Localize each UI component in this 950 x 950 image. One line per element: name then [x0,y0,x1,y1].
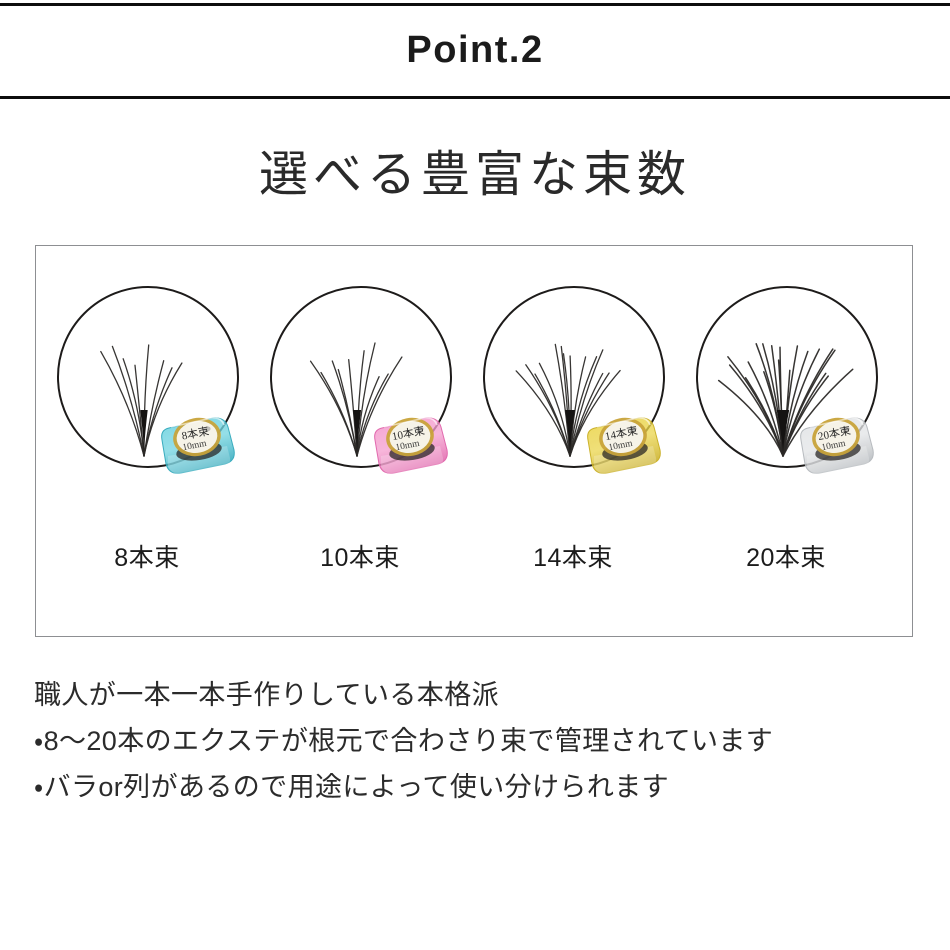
bundle-panel: 8本束10mm8本束10本束10mm10本束14本束10mm14本束20本束10… [35,245,913,637]
page-title: Point.2 [0,26,950,74]
lash-jar-10: 10本束10mm [368,406,452,476]
bundle-item-20: 20本束10mm20本束 [686,284,886,614]
bundle-item-10: 10本束10mm10本束 [260,284,460,614]
bundle-caption: 8本束 [47,542,247,574]
header-rule-top [0,3,950,6]
bundle-item-14: 14本束10mm14本束 [473,284,673,614]
description-line: ・バラor列があるので用途によって使い分けられます [34,764,924,810]
header-band: Point.2 [0,0,950,101]
lash-jar-8: 8本束10mm [155,406,239,476]
description-block: 職人が一本一本手作りしている本格派・8〜20本のエクステが根元で合わさり束で管理… [34,672,924,810]
description-line: ・8〜20本のエクステが根元で合わさり束で管理されています [34,718,924,764]
description-line: 職人が一本一本手作りしている本格派 [34,672,924,718]
bundle-caption: 14本束 [473,542,673,574]
bundle-caption: 10本束 [260,542,460,574]
section-heading: 選べる豊富な束数 [0,142,950,208]
lash-jar-20: 20本束10mm [794,406,878,476]
bundle-item-8: 8本束10mm8本束 [47,284,247,614]
bundle-row: 8本束10mm8本束10本束10mm10本束14本束10mm14本束20本束10… [36,246,914,638]
bundle-caption: 20本束 [686,542,886,574]
lash-jar-14: 14本束10mm [581,406,665,476]
header-rule-bottom [0,96,950,99]
